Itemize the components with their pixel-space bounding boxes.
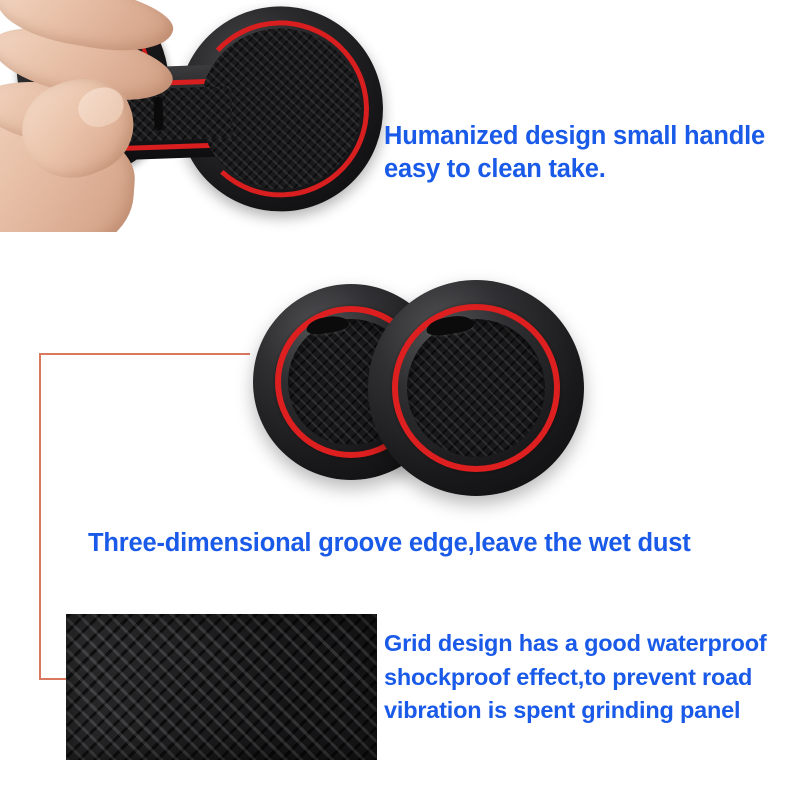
caption-humanized-design-handle: Humanized design small handle easy to cl… [384, 120, 796, 186]
product-infographic-page: Humanized design small handle easy to cl… [0, 0, 800, 800]
connector-line-left [39, 353, 41, 680]
coaster-right [368, 280, 584, 496]
caption-grid-design-waterproof: Grid design has a good waterproof shockp… [384, 627, 796, 728]
connector-line-top [39, 353, 250, 355]
two-round-coasters-photo [240, 262, 640, 522]
coaster-right-grid-texture [407, 319, 545, 457]
hand-holding-coaster-photo [0, 0, 395, 232]
human-hand [0, 0, 190, 232]
caption-three-dimensional-groove: Three-dimensional groove edge,leave the … [88, 527, 788, 560]
grid-texture-closeup-photo [66, 614, 377, 760]
